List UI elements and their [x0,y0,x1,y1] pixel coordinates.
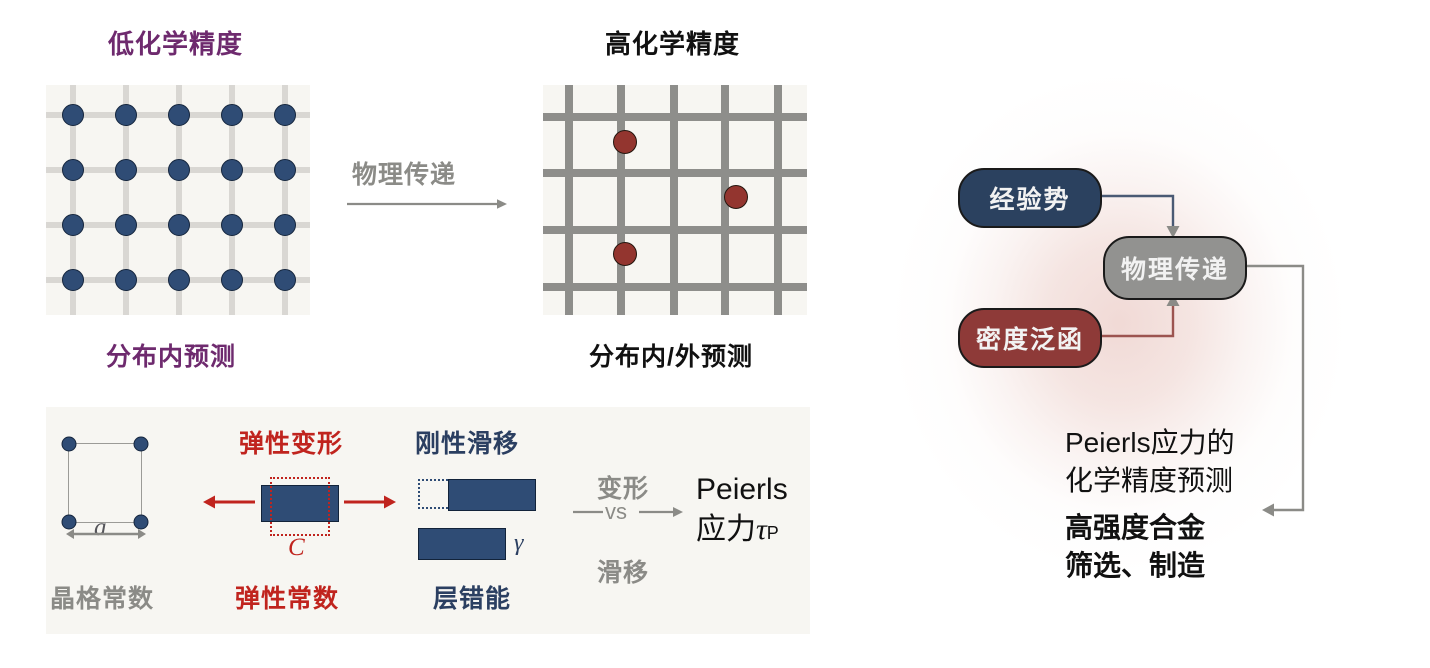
defect-atom [724,185,748,209]
lattice-atom [221,159,243,181]
grid-hline [543,283,807,291]
lattice-atom [274,104,296,126]
lattice-atom [168,159,190,181]
lattice-atom [62,269,84,291]
peierls-line1: Peierls [696,470,788,510]
cell-corner-atom [62,437,77,452]
defect-lattice-panel [543,85,807,315]
peierls-stress-result: Peierls 应力τP [696,470,788,549]
output-line-2: 化学精度预测 [1065,462,1235,500]
transfer-arrow-icon [347,198,507,210]
lattice-atom [274,159,296,181]
strain-arrow-left-icon [203,495,255,509]
cell-corner-atom [134,437,149,452]
node-empirical-potential[interactable]: 经验势 [958,168,1102,228]
output-line-1: Peierls应力的 [1065,424,1235,462]
lattice-atom [62,214,84,236]
perfect-lattice-panel [46,85,310,315]
lattice-atom [168,269,190,291]
stacking-fault-energy-caption: 层错能 [433,579,511,615]
output-line-4: 筛选、制造 [1065,547,1235,585]
lattice-atom [274,269,296,291]
output-line-3: 高强度合金 [1065,509,1235,547]
elastic-deformation-title: 弹性变形 [239,424,343,460]
left-panel-caption: 分布内预测 [106,337,236,373]
lattice-atom [221,269,243,291]
lattice-atom [221,214,243,236]
slip-block-upper [448,479,536,511]
left-panel-title: 低化学精度 [108,24,243,61]
stacking-fault-energy-symbol: γ [514,530,523,557]
grid-hline [543,226,807,234]
vs-label: vs [605,499,627,525]
strain-arrow-right-icon [344,495,396,509]
vs-arrow-group: vs [573,500,683,524]
node-physics-transfer[interactable]: 物理传递 [1103,236,1247,300]
vs-arrow-icon [573,500,683,524]
node-label: 物理传递 [1121,250,1229,286]
node-label: 密度泛函 [976,320,1084,356]
defect-atom [613,242,637,266]
right-panel-title: 高化学精度 [605,24,740,61]
lattice-atom [115,159,137,181]
lattice-atom [168,104,190,126]
lattice-constant-caption: 晶格常数 [50,579,154,615]
grid-hline [543,169,807,177]
lattice-atom [62,159,84,181]
elastic-reference-outline [270,477,330,536]
elastic-constant-symbol: C [288,534,305,562]
tau-subscript: P [767,523,779,543]
lattice-dimension-arrow-icon [66,528,146,540]
unit-cell-square [68,443,142,523]
flow-output-text: Peierls应力的 化学精度预测 高强度合金 筛选、制造 [1065,424,1235,584]
lattice-atom [115,269,137,291]
rigid-slip-title: 刚性滑移 [415,424,519,460]
peierls-stress-label: 应力 [696,513,756,546]
lattice-atom [115,214,137,236]
lattice-atom [168,214,190,236]
node-dft[interactable]: 密度泛函 [958,308,1102,368]
elastic-constant-caption: 弹性常数 [235,579,339,615]
vs-bottom-label: 滑移 [597,553,649,589]
defect-atom [613,130,637,154]
transfer-label: 物理传递 [352,155,456,191]
slip-block-lower [418,528,506,560]
lattice-atom [62,104,84,126]
tau-symbol: τ [756,513,767,546]
grid-hline [543,113,807,121]
lattice-atom [115,104,137,126]
right-panel-caption: 分布内/外预测 [589,337,753,373]
peierls-line2: 应力τP [696,510,788,550]
lattice-atom [274,214,296,236]
node-label: 经验势 [989,180,1070,216]
lattice-atom [221,104,243,126]
